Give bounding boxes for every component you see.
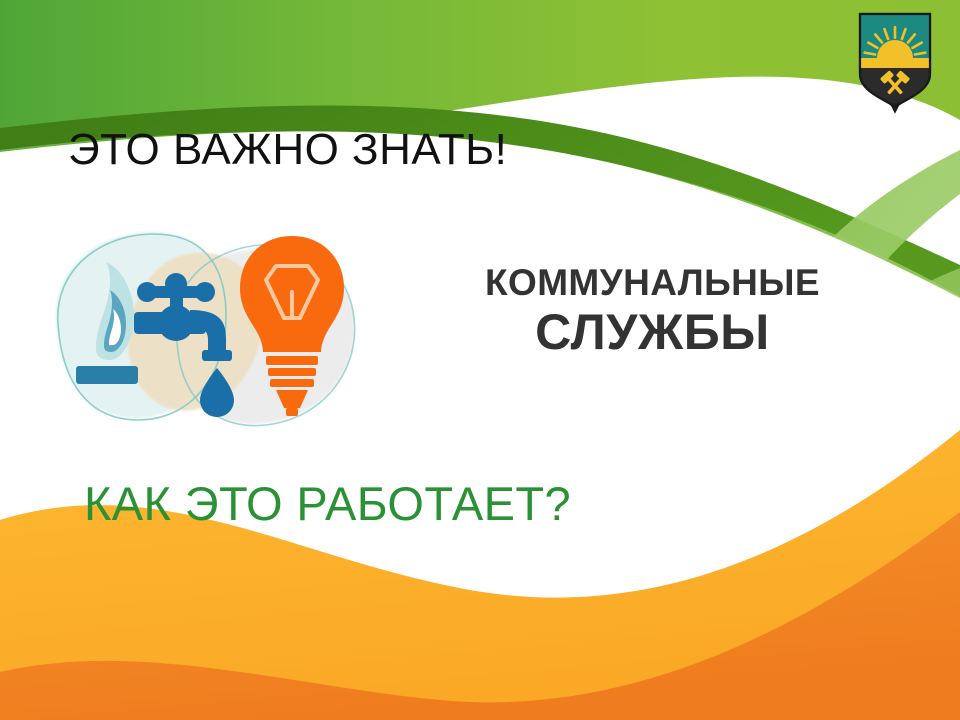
subject-line-2: СЛУЖБЫ <box>380 303 925 362</box>
slide-canvas: ЭТО ВАЖНО ЗНАТЬ! КОММУНАЛЬНЫЕ СЛУЖБЫ КАК… <box>0 0 960 720</box>
page-title: ЭТО ВАЖНО ЗНАТЬ! <box>68 126 507 174</box>
utilities-illustration <box>28 218 378 446</box>
question-text: КАК ЭТО РАБОТАЕТ? <box>84 479 571 530</box>
bulb-thread-1 <box>268 368 316 376</box>
faucet-joint <box>158 305 194 341</box>
coat-of-arms-icon <box>850 8 940 116</box>
shield-gold-band <box>858 58 932 68</box>
bulb-tip <box>286 408 298 416</box>
coat-of-arms <box>850 8 940 116</box>
subject-line-1: КОММУНАЛЬНЫЕ <box>380 262 925 303</box>
burner-base <box>76 366 138 384</box>
utilities-illustration-svg <box>28 218 378 446</box>
bulb-neck <box>266 356 318 365</box>
subject-heading: КОММУНАЛЬНЫЕ СЛУЖБЫ <box>380 262 925 362</box>
spout-tip <box>202 350 232 361</box>
bulb-thread-2 <box>270 379 314 387</box>
